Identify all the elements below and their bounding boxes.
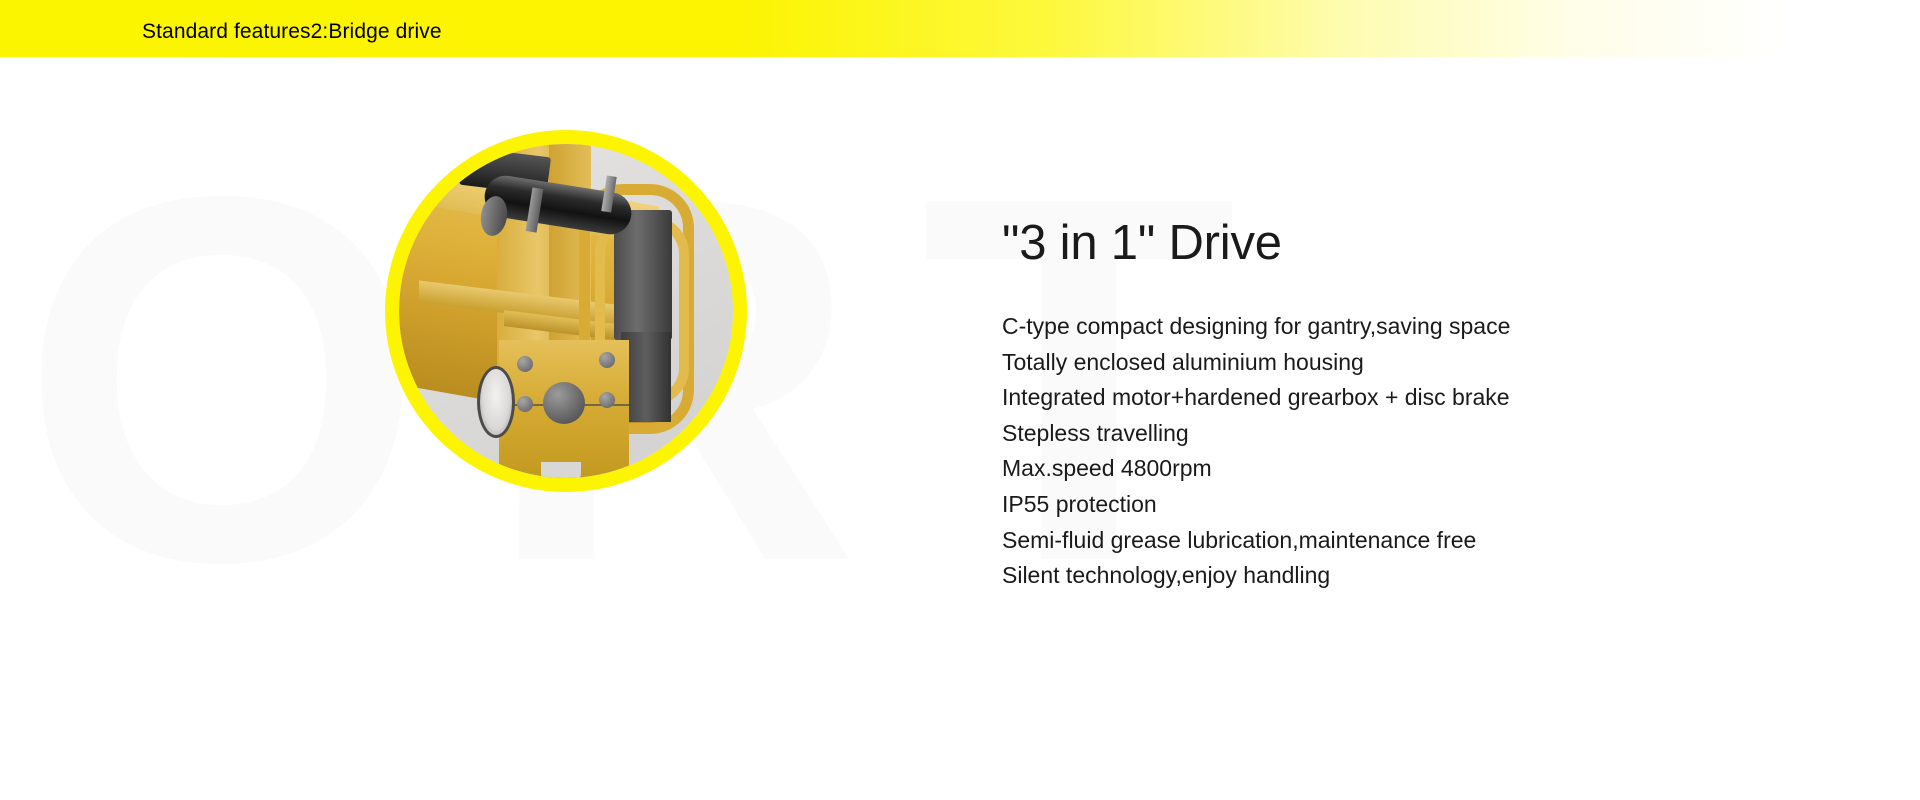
feature-item: C-type compact designing for gantry,savi… <box>1002 309 1702 345</box>
feature-item: IP55 protection <box>1002 487 1702 523</box>
photo-bolt-shape <box>517 356 533 372</box>
feature-list: C-type compact designing for gantry,savi… <box>1002 309 1702 594</box>
photo-dial-shape <box>477 366 515 438</box>
feature-item: Semi-fluid grease lubrication,maintenanc… <box>1002 523 1702 559</box>
content-text-column: "3 in 1" Drive C-type compact designing … <box>1002 215 1702 594</box>
photo-bolt-shape <box>599 392 615 408</box>
feature-item: Max.speed 4800rpm <box>1002 451 1702 487</box>
photo-bolt-shape <box>599 352 615 368</box>
product-photo-circle <box>385 130 747 492</box>
feature-item: Stepless travelling <box>1002 416 1702 452</box>
feature-item: Silent technology,enjoy handling <box>1002 558 1702 594</box>
photo-mount-notch-shape <box>541 462 581 478</box>
feature-item: Integrated motor+hardened grearbox + dis… <box>1002 380 1702 416</box>
slide-root: Standard features2:Bridge drive ORT <box>0 0 1920 800</box>
feature-item: Totally enclosed aluminium housing <box>1002 345 1702 381</box>
photo-hub-shape <box>543 382 585 424</box>
drive-title: "3 in 1" Drive <box>1002 215 1702 271</box>
product-photo-image <box>399 144 733 478</box>
header-title: Standard features2:Bridge drive <box>142 20 442 44</box>
photo-bolt-shape <box>517 396 533 412</box>
